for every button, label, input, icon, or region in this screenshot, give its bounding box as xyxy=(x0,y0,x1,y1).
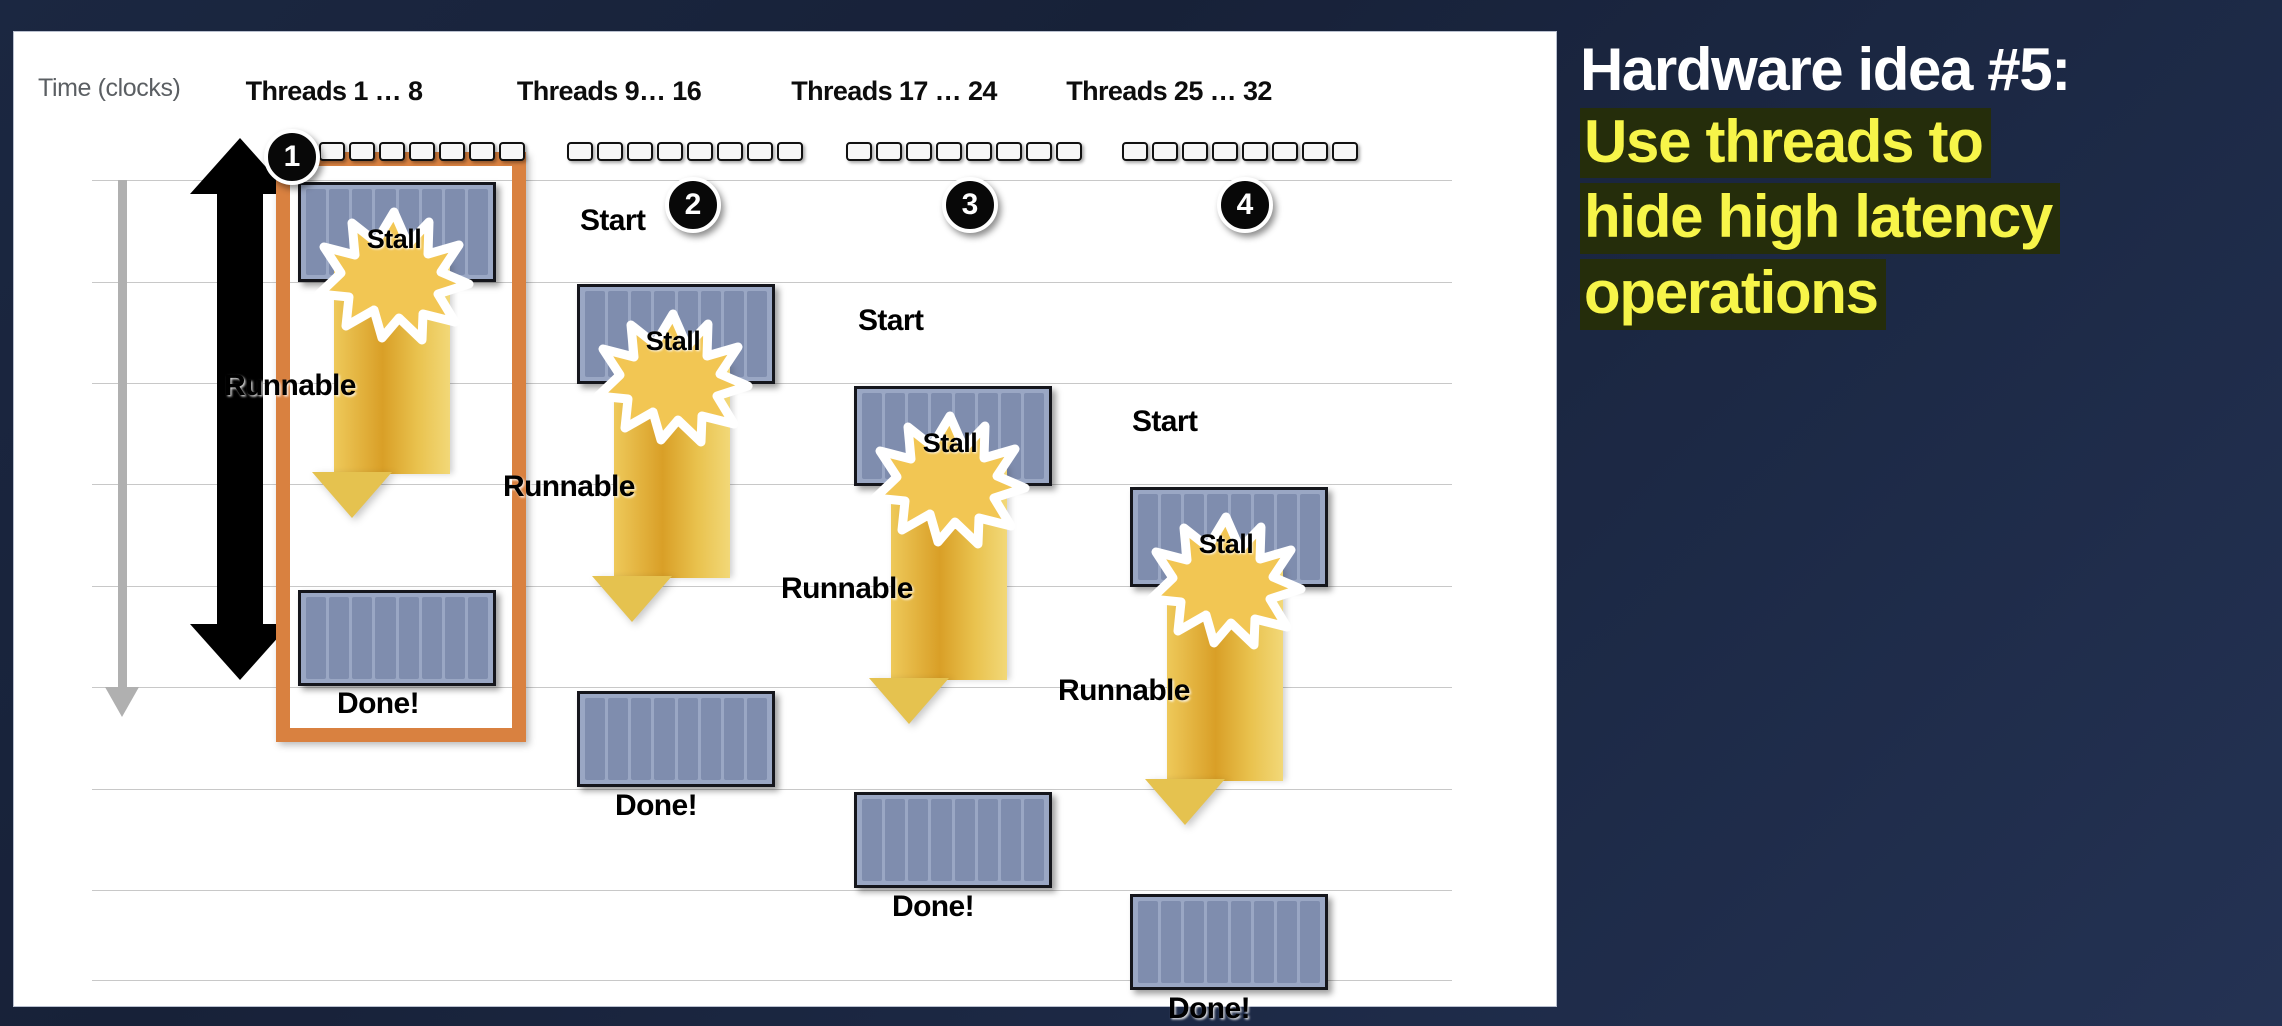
diagram-canvas: Time (clocks) Threads 1 … 8 Threads 9… 1… xyxy=(14,32,1556,1006)
step-badge-2: 2 xyxy=(665,177,721,233)
panel-highlight-line-3: operations xyxy=(1580,259,1886,330)
thread-square-icon xyxy=(1026,142,1052,161)
done-block-column-1 xyxy=(298,590,496,686)
column-header-2: Threads 9… 16 xyxy=(489,76,729,107)
arrow-head-icon xyxy=(592,576,672,622)
thread-square-icon xyxy=(717,142,743,161)
thread-square-icon xyxy=(846,142,872,161)
done-label-column-1: Done! xyxy=(337,687,419,721)
gridline-8 xyxy=(92,890,1452,891)
done-label-column-2: Done! xyxy=(615,789,697,823)
thread-square-icon xyxy=(499,142,525,161)
thread-square-icon xyxy=(996,142,1022,161)
slide-root: Time (clocks) Threads 1 … 8 Threads 9… 1… xyxy=(0,0,2282,1026)
step-badge-3: 3 xyxy=(942,177,998,233)
done-label-column-3: Done! xyxy=(892,890,974,924)
start-label-column-4: Start xyxy=(1132,405,1197,439)
thread-square-icon xyxy=(319,142,345,161)
thread-square-icon xyxy=(687,142,713,161)
thread-square-icon xyxy=(597,142,623,161)
idea-panel: Hardware idea #5: Use threads to hide hi… xyxy=(1580,38,2270,335)
time-axis-line xyxy=(118,180,127,705)
thread-squares-column-4 xyxy=(1122,142,1358,161)
panel-highlight-line-1: Use threads to xyxy=(1580,108,1991,179)
done-block-column-2 xyxy=(577,691,775,787)
thread-square-icon xyxy=(1182,142,1208,161)
step-badge-1: 1 xyxy=(264,129,320,185)
latency-arrow-shaft xyxy=(217,190,263,630)
thread-square-icon xyxy=(906,142,932,161)
column-header-1: Threads 1 … 8 xyxy=(214,76,454,107)
thread-square-icon xyxy=(876,142,902,161)
stall-burst-column-4: Stall xyxy=(1151,515,1301,645)
thread-square-icon xyxy=(409,142,435,161)
thread-square-icon xyxy=(1056,142,1082,161)
step-badge-4: 4 xyxy=(1217,177,1273,233)
thread-square-icon xyxy=(747,142,773,161)
thread-square-icon xyxy=(966,142,992,161)
thread-squares-column-3 xyxy=(846,142,1082,161)
thread-square-icon xyxy=(627,142,653,161)
runnable-label-column-1: Runnable xyxy=(224,369,356,403)
done-label-column-4: Done! xyxy=(1168,992,1250,1026)
arrow-head-icon xyxy=(312,472,392,518)
done-block-column-3 xyxy=(854,792,1052,888)
thread-square-icon xyxy=(657,142,683,161)
thread-square-icon xyxy=(567,142,593,161)
panel-highlight-line-2: hide high latency xyxy=(1580,183,2060,254)
runnable-label-column-3: Runnable xyxy=(781,572,913,606)
thread-square-icon xyxy=(1212,142,1238,161)
panel-title: Hardware idea #5: xyxy=(1580,38,2270,102)
column-header-4: Threads 25 … 32 xyxy=(1044,76,1294,107)
stall-burst-column-2: Stall xyxy=(598,312,748,442)
thread-square-icon xyxy=(379,142,405,161)
runnable-label-column-2: Runnable xyxy=(503,470,635,504)
thread-square-icon xyxy=(936,142,962,161)
start-label-column-2: Start xyxy=(580,204,645,238)
thread-square-icon xyxy=(1152,142,1178,161)
thread-square-icon xyxy=(439,142,465,161)
time-axis-arrowhead-icon xyxy=(105,687,139,717)
thread-square-icon xyxy=(1302,142,1328,161)
thread-square-icon xyxy=(777,142,803,161)
thread-squares-column-2 xyxy=(567,142,803,161)
thread-square-icon xyxy=(1242,142,1268,161)
latency-arrow-down-icon xyxy=(190,624,290,680)
thread-square-icon xyxy=(469,142,495,161)
stall-burst-column-1: Stall xyxy=(319,210,469,340)
thread-square-icon xyxy=(1122,142,1148,161)
thread-square-icon xyxy=(1272,142,1298,161)
start-label-column-3: Start xyxy=(858,304,923,338)
time-axis-label: Time (clocks) xyxy=(38,74,180,103)
arrow-head-icon xyxy=(869,678,949,724)
runnable-label-column-4: Runnable xyxy=(1058,674,1190,708)
stall-burst-column-3: Stall xyxy=(875,414,1025,544)
column-header-3: Threads 17 … 24 xyxy=(769,76,1019,107)
thread-square-icon xyxy=(1332,142,1358,161)
thread-square-icon xyxy=(349,142,375,161)
thread-squares-column-1 xyxy=(289,142,525,161)
arrow-head-icon xyxy=(1145,779,1225,825)
done-block-column-4 xyxy=(1130,894,1328,990)
